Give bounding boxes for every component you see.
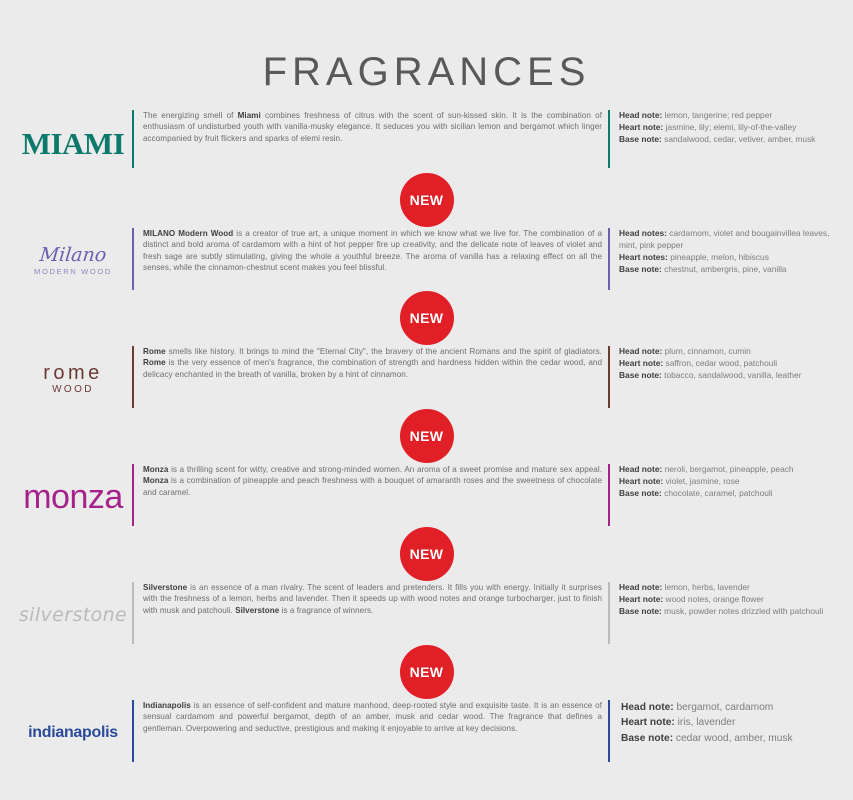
description-milano: MILANO Modern Wood is a creator of true … — [132, 228, 608, 290]
description-indianapolis: Indianapolis is an essence of self-confi… — [132, 700, 608, 762]
note-base: Base note: musk, powder notes drizzled w… — [619, 606, 839, 618]
fragrance-row-milano: Milano MODERN WOOD MILANO Modern Wood is… — [0, 228, 853, 290]
brand-logo-monza: monza — [14, 464, 132, 526]
description-text: Silverstone is an essence of a man rival… — [143, 582, 602, 616]
description-text: Indianapolis is an essence of self-confi… — [143, 700, 602, 734]
brand-logo-monza-text: monza — [23, 480, 123, 514]
note-heart: Heart note: saffron, cedar wood, patchou… — [619, 358, 839, 370]
brand-logo-milano: Milano MODERN WOOD — [14, 228, 132, 290]
notes-monza: Head note: neroli, bergamot, pineapple, … — [608, 464, 839, 526]
fragrances-poster: FRAGRANCES MIAMI The energizing smell of… — [0, 0, 853, 800]
brand-logo-indianapolis-text: indianapolis — [28, 725, 118, 741]
new-badge: NEW — [400, 291, 454, 345]
fragrance-row-indianapolis: indianapolis Indianapolis is an essence … — [0, 700, 853, 762]
description-monza: Monza is a thrilling scent for witty, cr… — [132, 464, 608, 526]
description-text: MILANO Modern Wood is a creator of true … — [143, 228, 602, 274]
fragrance-row-miami: MIAMI The energizing smell of Miami comb… — [0, 110, 853, 172]
note-heart: Heart notes: pineapple, melon, hibiscus — [619, 252, 839, 264]
note-base: Base note: tobacco, sandalwood, vanilla,… — [619, 370, 839, 382]
brand-logo-rome-text: rome — [43, 363, 103, 383]
description-rome: Rome smells like history. It brings to m… — [132, 346, 608, 408]
note-base: Base note: chocolate, caramel, patchouli — [619, 488, 839, 500]
note-head: Head note: lemon, herbs, lavender — [619, 582, 839, 594]
note-heart: Heart note: jasmine, lily; elemi, lily-o… — [619, 122, 839, 134]
brand-logo-rome: rome WOOD — [14, 346, 132, 408]
note-head: Head note: plum, cinnamon, cumin — [619, 346, 839, 358]
notes-indianapolis: Head note: bergamot, cardamom Heart note… — [608, 700, 839, 762]
notes-rome: Head note: plum, cinnamon, cumin Heart n… — [608, 346, 839, 408]
page-title: FRAGRANCES — [0, 52, 853, 92]
poster-header: FRAGRANCES — [0, 0, 853, 110]
note-heart: Heart note: iris, lavender — [621, 715, 839, 730]
brand-logo-miami-text: MIAMI — [22, 128, 125, 159]
brand-logo-miami: MIAMI — [14, 110, 132, 172]
new-badge: NEW — [400, 409, 454, 463]
note-head: Head note: lemon, tangerine; red pepper — [619, 110, 839, 122]
note-base: Base note: cedar wood, amber, musk — [621, 731, 839, 746]
note-base: Base note: sandalwood, cedar, vetiver, a… — [619, 134, 839, 146]
note-head: Head notes: cardamom, violet and bougain… — [619, 228, 839, 252]
new-badge-separator-3: NEW — [0, 408, 853, 464]
brand-logo-indianapolis: indianapolis — [14, 700, 132, 762]
fragrance-row-rome: rome WOOD Rome smells like history. It b… — [0, 346, 853, 408]
note-heart: Heart note: violet, jasmine, rose — [619, 476, 839, 488]
new-badge-separator-5: NEW — [0, 644, 853, 700]
note-base: Base note: chestnut, ambergris, pine, va… — [619, 264, 839, 276]
brand-logo-rome-subtext: WOOD — [43, 385, 103, 395]
note-head: Head note: neroli, bergamot, pineapple, … — [619, 464, 839, 476]
description-text: Rome smells like history. It brings to m… — [143, 346, 602, 380]
new-badge-separator-1: NEW — [0, 172, 853, 228]
brand-logo-silverstone: silverstone — [14, 582, 132, 644]
fragrance-row-silverstone: silverstone Silverstone is an essence of… — [0, 582, 853, 644]
new-badge: NEW — [400, 645, 454, 699]
description-miami: The energizing smell of Miami combines f… — [132, 110, 608, 168]
notes-milano: Head notes: cardamom, violet and bougain… — [608, 228, 839, 290]
note-heart: Heart note: wood notes, orange flower — [619, 594, 839, 606]
fragrance-row-monza: monza Monza is a thrilling scent for wit… — [0, 464, 853, 526]
new-badge-separator-2: NEW — [0, 290, 853, 346]
notes-miami: Head note: lemon, tangerine; red pepper … — [608, 110, 839, 168]
description-text: The energizing smell of Miami combines f… — [143, 110, 602, 144]
description-silverstone: Silverstone is an essence of a man rival… — [132, 582, 608, 644]
new-badge: NEW — [400, 527, 454, 581]
notes-silverstone: Head note: lemon, herbs, lavender Heart … — [608, 582, 839, 644]
note-head: Head note: bergamot, cardamom — [621, 700, 839, 715]
new-badge-separator-4: NEW — [0, 526, 853, 582]
brand-logo-milano-subtext: MODERN WOOD — [34, 268, 112, 276]
fragrance-list: MIAMI The energizing smell of Miami comb… — [0, 110, 853, 762]
brand-logo-silverstone-text: silverstone — [19, 606, 127, 625]
description-text: Monza is a thrilling scent for witty, cr… — [143, 464, 602, 498]
brand-logo-milano-text: Milano — [33, 246, 113, 265]
new-badge: NEW — [400, 173, 454, 227]
